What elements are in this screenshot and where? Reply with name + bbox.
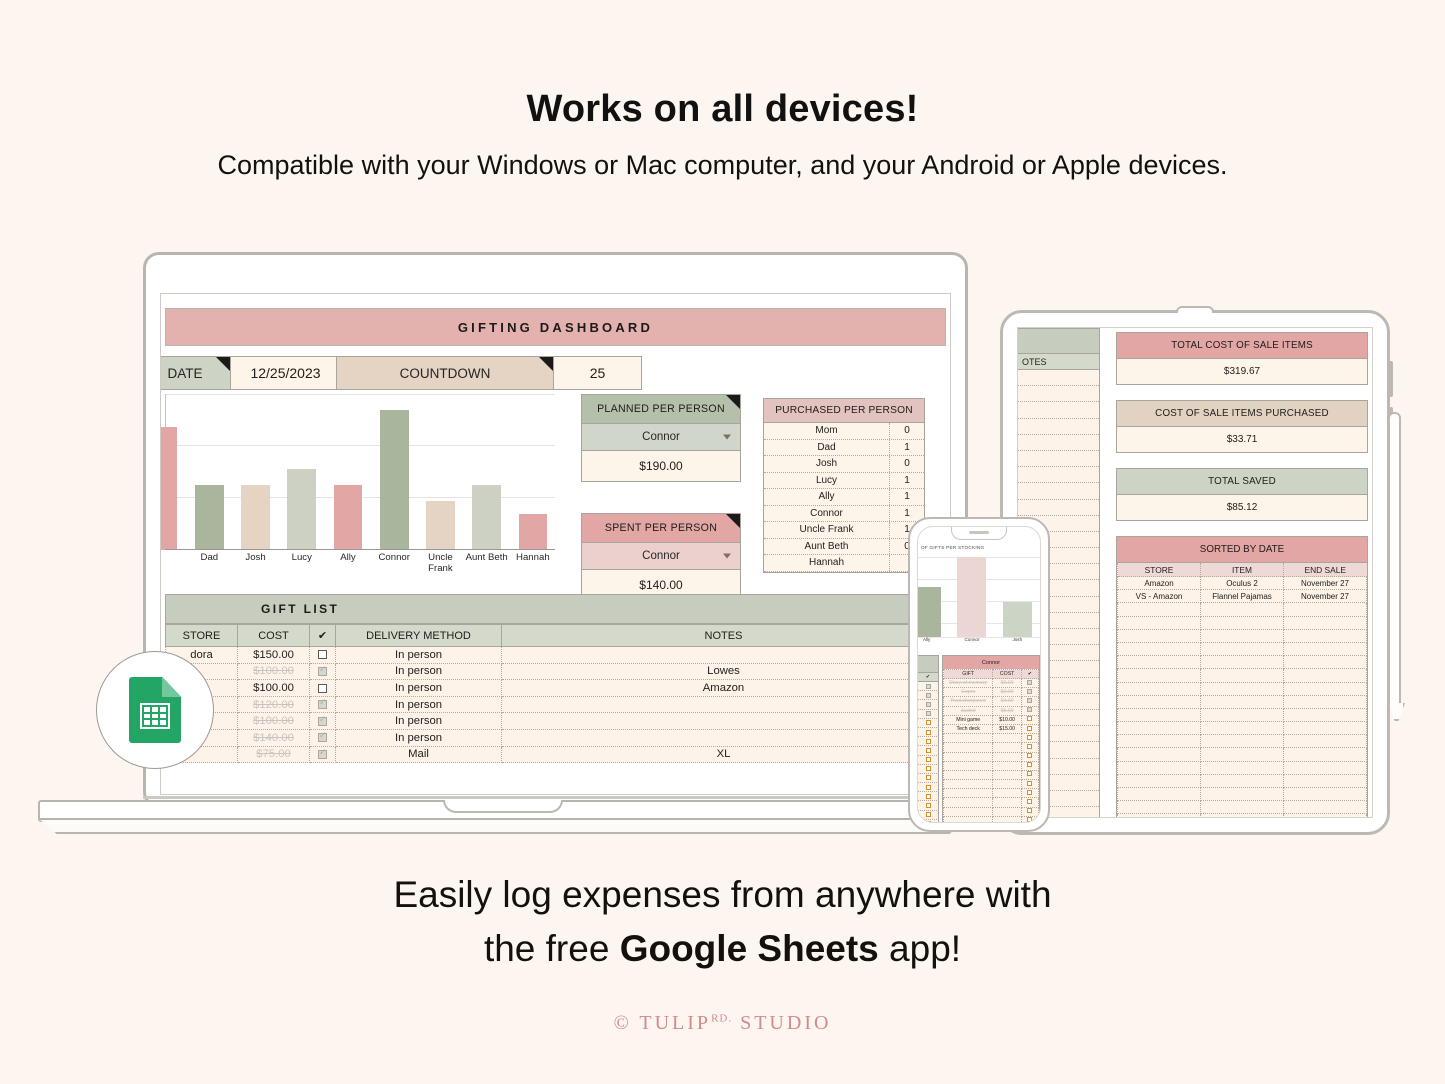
table-row [1018, 386, 1099, 402]
brand-tail: STUDIO [732, 1012, 831, 1034]
phone-screen: OF GIFTS PER STOCKING AllyConnorJosh ✔ C… [917, 526, 1041, 823]
table-cell [1021, 752, 1038, 761]
table-row [944, 780, 1039, 789]
table-row: Dad1 [764, 440, 924, 457]
table-cell [1118, 616, 1201, 629]
table-cell [1284, 695, 1367, 708]
table-cell [1201, 801, 1284, 814]
chevron-down-icon [723, 554, 731, 559]
table-cell [944, 734, 993, 743]
table-cell [993, 734, 1022, 743]
checkbox-icon[interactable] [926, 748, 931, 753]
phone-chart-bar [1003, 602, 1032, 637]
table-row: $100.00In personAmazon [166, 680, 946, 697]
summary-card-header: COST OF SALE ITEMS PURCHASED [1117, 401, 1367, 426]
table-cell [1118, 708, 1201, 721]
cell-cost: $0.00 [993, 679, 1022, 688]
table-row: Aunt Beth0 [764, 539, 924, 556]
cell-cost: $100.00 [238, 663, 310, 680]
checkbox-icon[interactable] [926, 821, 931, 823]
gift-list-header-row: STORECOST✔DELIVERY METHODNOTES [166, 625, 946, 647]
cell-cost: $0.00 [993, 688, 1022, 697]
table-cell [1284, 708, 1367, 721]
cell-checkbox[interactable] [1021, 706, 1038, 715]
table-cell [1284, 761, 1367, 774]
checkbox-icon[interactable] [926, 757, 931, 762]
phone-side-row [918, 728, 939, 737]
phone-chart-bar-column [995, 553, 1040, 637]
table-row [1118, 695, 1367, 708]
cell-checkbox[interactable] [1021, 679, 1038, 688]
phone-side-row [918, 820, 939, 823]
table-row [1018, 467, 1099, 483]
tablet-stylus-pencil [1388, 412, 1401, 707]
table-cell [1201, 814, 1284, 818]
google-sheets-icon [129, 677, 181, 743]
cell-purchased-checkbox[interactable] [310, 713, 336, 730]
cell-purchased-checkbox[interactable] [310, 647, 336, 664]
chart-x-labels: DadJoshLucyAllyConnorUncleFrankAunt Beth… [160, 550, 556, 576]
checkbox-icon[interactable] [1027, 808, 1032, 813]
phone-device: OF GIFTS PER STOCKING AllyConnorJosh ✔ C… [908, 517, 1050, 832]
table-cell [1201, 642, 1284, 655]
planned-per-person-header: PLANNED PER PERSON [582, 395, 740, 423]
table-cell [1201, 656, 1284, 669]
laptop-screen: GIFTING DASHBOARD DATE 12/25/2023 COUNTD… [160, 293, 951, 795]
page-subtitle: Compatible with your Windows or Mac comp… [0, 150, 1445, 181]
cell-purchased-checkbox[interactable] [310, 729, 336, 746]
table-cell [993, 789, 1022, 798]
chart-x-label: Josh [232, 550, 278, 576]
table-row: $100.00In personLowes [166, 663, 946, 680]
phone-side-row [918, 737, 939, 746]
cell-cost: $4.00 [993, 697, 1022, 706]
table-row: AmazonOculus 2November 27 [1118, 577, 1367, 590]
person-count: 0 [890, 423, 924, 439]
tablet-screen: OTES TOTAL COST OF SALE ITEMS$319.67COST… [1017, 327, 1373, 818]
table-row [944, 789, 1039, 798]
table-row: Josh0 [764, 456, 924, 473]
phone-chart-bars [917, 553, 1040, 637]
checkbox-icon[interactable] [318, 684, 327, 693]
table-row: Mom0 [764, 423, 924, 440]
column-header: STORE [1118, 563, 1201, 577]
cell-notes: Amazon [502, 680, 946, 697]
column-header: DELIVERY METHOD [336, 625, 502, 647]
table-cell [944, 798, 993, 807]
table-row [1018, 500, 1099, 516]
table-cell: Oculus 2 [1201, 577, 1284, 590]
tablet-volume-up-button[interactable] [1389, 361, 1393, 397]
checkbox-icon[interactable] [926, 684, 931, 689]
laptop-hinge [143, 796, 968, 799]
table-row [944, 734, 1039, 743]
phone-side-column: ✔ [918, 655, 939, 822]
table-cell [1021, 761, 1038, 770]
table-cell [1118, 603, 1201, 616]
tablet-main-panel: TOTAL COST OF SALE ITEMS$319.67COST OF S… [1116, 332, 1368, 817]
gifting-dashboard-title: GIFTING DASHBOARD [165, 308, 946, 346]
laptop-lid: GIFTING DASHBOARD DATE 12/25/2023 COUNTD… [143, 252, 968, 808]
table-cell [1284, 603, 1367, 616]
table-cell [1021, 743, 1038, 752]
cell-cost: $100.00 [238, 680, 310, 697]
gift-list-section: GIFT LIST STORECOST✔DELIVERY METHODNOTES… [165, 594, 946, 794]
chart-x-label: Connor [371, 550, 417, 576]
cell-notes [502, 713, 946, 730]
checkbox-icon[interactable] [1027, 753, 1032, 758]
table-cell [1284, 748, 1367, 761]
table-cell [944, 807, 993, 816]
table-cell [1118, 656, 1201, 669]
checkbox-icon[interactable] [1027, 716, 1032, 721]
summary-card-header: TOTAL SAVED [1117, 469, 1367, 494]
table-row [1118, 722, 1367, 735]
table-cell [1118, 669, 1201, 682]
chart-bar-column [464, 394, 510, 550]
table-row: Connor1 [764, 506, 924, 523]
person-name: Dad [764, 440, 890, 456]
checkbox-icon[interactable] [926, 693, 931, 698]
summary-card-value: $85.12 [1117, 494, 1367, 520]
cell-checkbox[interactable] [1021, 715, 1038, 724]
cell-notes [502, 647, 946, 664]
phone-side-row [918, 700, 939, 709]
chart-bar [519, 514, 548, 550]
checkbox-icon[interactable] [926, 812, 931, 817]
checkbox-icon[interactable] [926, 739, 931, 744]
table-row [1118, 603, 1367, 616]
table-row: Gopro$0.00 [944, 688, 1039, 697]
laptop-trackpad-notch [443, 800, 563, 813]
checkbox-icon[interactable] [1027, 762, 1032, 767]
cell-cost: $10.00 [993, 715, 1022, 724]
cell-cost: $140.00 [238, 729, 310, 746]
spent-per-person-header: SPENT PER PERSON [582, 514, 740, 542]
phone-gift-table-area: ✔ Connor GIFTCOST✔ Diary of memory$0.00G… [918, 655, 1040, 822]
table-cell [1201, 603, 1284, 616]
cell-delivery-method: In person [336, 713, 502, 730]
table-cell [1021, 816, 1038, 823]
column-header: STORE [166, 625, 238, 647]
phone-chart-x-label: Ally [917, 637, 949, 651]
summary-card-header: TOTAL COST OF SALE ITEMS [1117, 333, 1367, 358]
checkbox-icon[interactable] [1027, 781, 1032, 786]
table-row [1118, 616, 1367, 629]
person-name: Hannah [764, 555, 890, 571]
phone-body: OF GIFTS PER STOCKING AllyConnorJosh ✔ C… [908, 517, 1050, 832]
table-row [944, 752, 1039, 761]
table-cell [1118, 695, 1201, 708]
cell-gift: Diary of memory [944, 679, 993, 688]
cell-delivery-method: In person [336, 663, 502, 680]
table-cell [993, 743, 1022, 752]
chart-bar-column [160, 394, 186, 550]
table-cell [1284, 642, 1367, 655]
table-cell [993, 780, 1022, 789]
checkbox-icon[interactable] [318, 650, 327, 659]
table-row [1118, 656, 1367, 669]
column-header: COST [238, 625, 310, 647]
checkbox-icon[interactable] [318, 717, 327, 726]
table-cell [1118, 748, 1201, 761]
chart-bar-column [325, 394, 371, 550]
table-row: $75.00MailXL [166, 746, 946, 763]
table-row [1018, 370, 1099, 386]
sorted-by-date-table: SORTED BY DATE STOREITEMEND SALE AmazonO… [1116, 536, 1368, 818]
checkbox-icon[interactable] [1027, 726, 1032, 731]
brand-signature: © TULIPRD. STUDIO [0, 1012, 1445, 1035]
spent-per-person-dropdown[interactable]: Connor [582, 542, 740, 569]
table-row: Tech deck$15.00 [944, 724, 1039, 733]
chart-x-label: Ally [325, 550, 371, 576]
cell-cost: $100.00 [238, 713, 310, 730]
cell-purchased-checkbox[interactable] [310, 746, 336, 763]
table-row: $100.00In person [166, 713, 946, 730]
checkbox-icon[interactable] [1027, 799, 1032, 804]
phone-side-row [918, 811, 939, 820]
phone-side-row [918, 710, 939, 719]
cell-delivery-method: In person [336, 729, 502, 746]
table-row: Jacket$5.00 [944, 706, 1039, 715]
cell-delivery-method: In person [336, 696, 502, 713]
checkbox-icon[interactable] [318, 750, 327, 759]
table-cell [1201, 735, 1284, 748]
checkbox-icon[interactable] [318, 733, 327, 742]
table-row [1118, 814, 1367, 818]
chart-bar [380, 410, 409, 550]
checkbox-icon[interactable] [926, 702, 931, 707]
phone-side-row [918, 719, 939, 728]
cell-cost: $120.00 [238, 696, 310, 713]
planned-per-person-dropdown[interactable]: Connor [582, 423, 740, 450]
column-header: GIFT [944, 670, 993, 679]
cell-purchased-checkbox[interactable] [310, 696, 336, 713]
table-row [944, 770, 1039, 779]
tablet-device: OTES TOTAL COST OF SALE ITEMS$319.67COST… [1000, 310, 1390, 835]
purchased-per-person-header: PURCHASED PER PERSON [764, 399, 924, 423]
person-count: 1 [890, 440, 924, 456]
table-row: Pool sharpener$4.00 [944, 697, 1039, 706]
cell-checkbox[interactable] [1021, 724, 1038, 733]
gift-list-title: GIFT LIST [165, 594, 946, 624]
planned-per-person-card: PLANNED PER PERSON Connor $190.00 [581, 394, 741, 482]
checkbox-icon[interactable] [1027, 735, 1032, 740]
table-cell [944, 816, 993, 823]
table-cell [993, 816, 1022, 823]
gift-list-table: STORECOST✔DELIVERY METHODNOTES dora$150.… [165, 624, 946, 763]
person-name: Mom [764, 423, 890, 439]
table-cell [1201, 616, 1284, 629]
date-label: DATE [160, 356, 231, 390]
table-cell [1284, 722, 1367, 735]
phone-side-row [918, 756, 939, 765]
table-cell [944, 770, 993, 779]
person-name: Josh [764, 456, 890, 472]
checkbox-icon[interactable] [926, 794, 931, 799]
table-cell [1284, 629, 1367, 642]
table-row: Ally1 [764, 489, 924, 506]
chart-x-label: Hannah [510, 550, 556, 576]
planned-per-person-bar-chart: DadJoshLucyAllyConnorUncleFrankAunt Beth… [165, 394, 555, 576]
table-cell [1284, 682, 1367, 695]
footer-line-2-bold: Google Sheets [620, 928, 879, 969]
table-cell [1118, 774, 1201, 787]
footer-line-2-post: app! [879, 928, 961, 969]
phone-chart-bar-column [949, 553, 994, 637]
chart-bar [472, 485, 501, 550]
countdown-cellpair: COUNTDOWN 25 [336, 356, 642, 390]
planned-per-person-selected: Connor [642, 431, 680, 443]
checkbox-icon[interactable] [926, 730, 931, 735]
table-row [944, 761, 1039, 770]
chart-x-label [160, 550, 186, 576]
table-row [1118, 708, 1367, 721]
table-cell [1284, 669, 1367, 682]
cell-purchased-checkbox[interactable] [310, 680, 336, 697]
person-count: 0 [890, 456, 924, 472]
date-value[interactable]: 12/25/2023 [231, 356, 341, 390]
checkbox-icon[interactable] [926, 775, 931, 780]
phone-chart-x-labels: AllyConnorJosh [917, 637, 1040, 651]
chart-bar-column [279, 394, 325, 550]
cell-cost: $5.00 [993, 706, 1022, 715]
checkbox-icon[interactable] [1027, 790, 1032, 795]
cell-checkbox[interactable] [1021, 688, 1038, 697]
planned-per-person-value: $190.00 [582, 450, 740, 481]
sorted-by-date-title: SORTED BY DATE [1117, 537, 1367, 562]
table-cell: November 27 [1284, 590, 1367, 603]
summary-card: COST OF SALE ITEMS PURCHASED$33.71 [1116, 400, 1368, 453]
tablet-camera [1176, 306, 1214, 313]
table-cell [1118, 642, 1201, 655]
table-cell [1118, 761, 1201, 774]
column-header: ✔ [1021, 670, 1038, 679]
phone-chart-x-label: Josh [995, 637, 1040, 651]
table-cell [1284, 735, 1367, 748]
column-header: ITEM [1201, 563, 1284, 577]
table-cell: Amazon [1118, 577, 1201, 590]
table-cell [1284, 656, 1367, 669]
table-row [1118, 774, 1367, 787]
table-cell: November 27 [1284, 577, 1367, 590]
table-row [1118, 682, 1367, 695]
table-cell [1284, 616, 1367, 629]
chevron-down-icon [723, 435, 731, 440]
table-cell [1118, 722, 1201, 735]
phone-side-row [918, 746, 939, 755]
summary-card: TOTAL SAVED$85.12 [1116, 468, 1368, 521]
table-cell [944, 789, 993, 798]
cell-delivery-method: In person [336, 647, 502, 664]
table-row [1118, 788, 1367, 801]
checkbox-icon[interactable] [1027, 689, 1032, 694]
table-row: Diary of memory$0.00 [944, 679, 1039, 688]
chart-bar-column [510, 394, 556, 550]
checkbox-icon[interactable] [318, 700, 327, 709]
table-row [1018, 435, 1099, 451]
checkbox-icon[interactable] [1027, 698, 1032, 703]
chart-x-label: UncleFrank [417, 550, 463, 576]
brand-copyright: © TULIP [614, 1012, 712, 1034]
checkbox-icon[interactable] [1027, 771, 1032, 776]
person-name: Aunt Beth [764, 539, 890, 555]
phone-card-header: Connor [943, 656, 1039, 669]
checkbox-icon[interactable] [926, 785, 931, 790]
column-header: COST [993, 670, 1022, 679]
google-sheets-badge [96, 651, 214, 769]
checkbox-icon[interactable] [1027, 680, 1032, 685]
chart-bar [195, 485, 224, 550]
checkbox-icon[interactable] [1027, 817, 1032, 822]
phone-chart-x-label: Connor [949, 637, 994, 651]
cell-gift: Mini game [944, 715, 993, 724]
phone-side-row [918, 801, 939, 810]
table-cell [944, 780, 993, 789]
table-row [1118, 669, 1367, 682]
person-name: Lucy [764, 473, 890, 489]
table-row [1118, 735, 1367, 748]
checkbox-icon[interactable] [318, 667, 327, 676]
phone-table-header-row: GIFTCOST✔ [944, 670, 1039, 679]
table-row: $120.00In person [166, 696, 946, 713]
checkbox-icon[interactable] [926, 766, 931, 771]
laptop-spreadsheet: GIFTING DASHBOARD DATE 12/25/2023 COUNTD… [161, 294, 950, 794]
checkbox-icon[interactable] [926, 711, 931, 716]
phone-speaker [969, 531, 989, 534]
table-cell [993, 752, 1022, 761]
checkbox-icon[interactable] [1027, 707, 1032, 712]
person-name: Uncle Frank [764, 522, 890, 538]
table-cell [993, 770, 1022, 779]
table-cell [1118, 629, 1201, 642]
chart-bar [426, 501, 455, 550]
phone-side-row [918, 691, 939, 700]
table-row: Lucy1 [764, 473, 924, 490]
tablet-notes-label: OTES [1018, 354, 1100, 370]
phone-chart-bar-column [917, 553, 949, 637]
table-cell [1021, 780, 1038, 789]
chart-x-label: Dad [186, 550, 232, 576]
spent-per-person-selected: Connor [642, 550, 680, 562]
phone-side-row [918, 792, 939, 801]
column-header: NOTES [502, 625, 946, 647]
footer-text: Easily log expenses from anywhere with t… [0, 868, 1445, 975]
cell-checkbox[interactable] [1021, 697, 1038, 706]
checkbox-icon[interactable] [926, 803, 931, 808]
cell-purchased-checkbox[interactable] [310, 663, 336, 680]
table-row [944, 816, 1039, 823]
table-row [1118, 761, 1367, 774]
table-cell [1284, 774, 1367, 787]
table-cell [944, 752, 993, 761]
table-cell [993, 761, 1022, 770]
chart-bar-column [232, 394, 278, 550]
table-row [1018, 451, 1099, 467]
phone-person-card: Connor GIFTCOST✔ Diary of memory$0.00Gop… [942, 655, 1040, 822]
table-cell [1201, 761, 1284, 774]
table-cell [1201, 748, 1284, 761]
person-name: Connor [764, 506, 890, 522]
cell-notes: XL [502, 746, 946, 763]
summary-card-value: $319.67 [1117, 358, 1367, 384]
table-cell [944, 743, 993, 752]
checkbox-icon[interactable] [926, 720, 931, 725]
checkbox-icon[interactable] [1027, 744, 1032, 749]
table-cell [1021, 789, 1038, 798]
table-row: Hannah [764, 555, 924, 572]
chart-bar [287, 469, 316, 550]
